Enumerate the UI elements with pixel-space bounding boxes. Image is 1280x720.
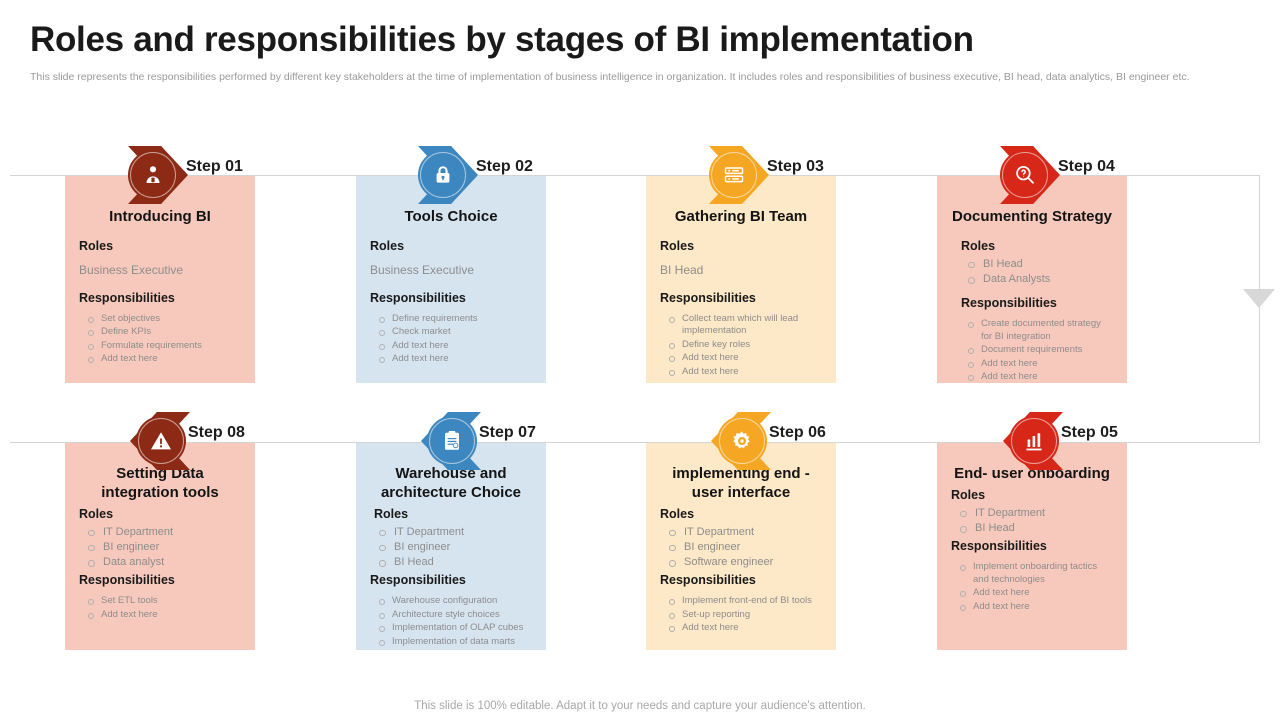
step-card-title: Introducing BI — [79, 208, 241, 227]
responsibility-item: Add text here — [951, 601, 1113, 614]
responsibility-item: Implementation of OLAP cubes — [370, 622, 532, 635]
role-item: BI engineer — [79, 540, 241, 554]
step-icon-badge[interactable] — [427, 416, 477, 466]
responsibility-item: Add text here — [370, 353, 532, 366]
step-marker[interactable]: Step 07 — [421, 412, 621, 470]
step-card-title: implementing end -user interface — [660, 465, 822, 503]
responsibility-item: Add text here — [660, 622, 822, 635]
role-item: BI engineer — [660, 540, 822, 554]
role-item: IT Department — [660, 525, 822, 539]
responsibility-item: Implementation of data marts — [370, 636, 532, 649]
responsibility-item: Add text here — [370, 340, 532, 353]
role-item: Software engineer — [660, 555, 822, 569]
step-card[interactable]: Tools ChoiceRolesBusiness ExecutiveRespo… — [356, 176, 546, 383]
responsibility-item: Add text here — [660, 366, 822, 379]
step-card-title: Warehouse and architecture Choice — [370, 465, 532, 503]
step-number-label: Step 06 — [769, 424, 826, 442]
role-value: BI Head — [660, 263, 822, 277]
chart-bars-icon — [1022, 429, 1046, 453]
step-icon-badge[interactable] — [1000, 150, 1050, 200]
responsibility-item: Architecture style choices — [370, 609, 532, 622]
responsibilities-list: Implement onboarding tactics and technol… — [951, 561, 1113, 613]
responsibility-item: Add text here — [959, 371, 1113, 384]
responsibilities-heading: Responsibilities — [79, 291, 241, 305]
step-marker[interactable]: Step 01 — [128, 146, 328, 204]
responsibilities-heading: Responsibilities — [951, 539, 1113, 553]
step-number-label: Step 08 — [188, 424, 245, 442]
role-item: Data Analysts — [959, 272, 1113, 286]
responsibility-item: Collect team which will lead implementat… — [660, 313, 822, 338]
responsibility-item: Add text here — [959, 358, 1113, 371]
roles-heading: Roles — [660, 507, 822, 521]
responsibilities-list: Set objectivesDefine KPIsFormulate requi… — [79, 313, 241, 366]
step-card[interactable]: implementing end -user interfaceRolesIT … — [646, 443, 836, 650]
role-value: Business Executive — [79, 263, 241, 277]
step-number-label: Step 02 — [476, 158, 533, 176]
step-card[interactable]: Setting Data integration toolsRolesIT De… — [65, 443, 255, 650]
server-icon — [722, 163, 746, 187]
step-icon-badge[interactable] — [128, 150, 178, 200]
role-item: IT Department — [370, 525, 532, 539]
roles-heading: Roles — [374, 507, 532, 521]
responsibilities-list: Warehouse configurationArchitecture styl… — [370, 595, 532, 648]
step-number-label: Step 05 — [1061, 424, 1118, 442]
step-marker[interactable]: Step 08 — [130, 412, 330, 470]
step-icon-badge[interactable] — [1009, 416, 1059, 466]
responsibility-item: Add text here — [79, 609, 241, 622]
responsibility-item: Document requirements — [959, 344, 1113, 357]
responsibility-item: Check market — [370, 326, 532, 339]
responsibility-item: Define key roles — [660, 339, 822, 352]
step-marker[interactable]: Step 03 — [709, 146, 909, 204]
role-value: Business Executive — [370, 263, 532, 277]
step-number-label: Step 07 — [479, 424, 536, 442]
step-number-label: Step 04 — [1058, 158, 1115, 176]
lock-icon — [431, 163, 455, 187]
step-icon-badge[interactable] — [418, 150, 468, 200]
role-item: BI engineer — [370, 540, 532, 554]
roles-list: IT DepartmentBI engineerSoftware enginee… — [660, 525, 822, 570]
step-card[interactable]: Warehouse and architecture ChoiceRolesIT… — [356, 443, 546, 650]
responsibilities-list: Define requirementsCheck marketAdd text … — [370, 313, 532, 366]
responsibility-item: Create documented strategy for BI integr… — [959, 318, 1113, 343]
roles-heading: Roles — [79, 507, 241, 521]
roles-heading: Roles — [951, 488, 1113, 502]
roles-heading: Roles — [79, 239, 241, 253]
responsibility-item: Set-up reporting — [660, 609, 822, 622]
step-card-title: Tools Choice — [370, 208, 532, 227]
role-item: IT Department — [79, 525, 241, 539]
clipboard-icon — [440, 429, 464, 453]
responsibilities-heading: Responsibilities — [660, 573, 822, 587]
role-item: Data analyst — [79, 555, 241, 569]
step-card-title: Gathering BI Team — [660, 208, 822, 227]
step-marker[interactable]: Step 06 — [711, 412, 911, 470]
roles-heading: Roles — [660, 239, 822, 253]
step-marker[interactable]: Step 04 — [1000, 146, 1200, 204]
footer-note: This slide is 100% editable. Adapt it to… — [0, 700, 1280, 712]
step-card[interactable]: Gathering BI TeamRolesBI HeadResponsibil… — [646, 176, 836, 383]
step-card[interactable]: Documenting StrategyRolesBI HeadData Ana… — [937, 176, 1127, 383]
responsibility-item: Add text here — [79, 353, 241, 366]
responsibilities-heading: Responsibilities — [370, 291, 532, 305]
warning-icon — [149, 429, 173, 453]
step-marker[interactable]: Step 02 — [418, 146, 618, 204]
roles-heading: Roles — [370, 239, 532, 253]
role-item: BI Head — [951, 521, 1113, 535]
role-item: IT Department — [951, 506, 1113, 520]
role-item: BI Head — [370, 555, 532, 569]
responsibility-item: Add text here — [660, 352, 822, 365]
step-icon-badge[interactable] — [709, 150, 759, 200]
responsibilities-heading: Responsibilities — [79, 573, 241, 587]
responsibility-item: Warehouse configuration — [370, 595, 532, 608]
responsibility-item: Formulate requirements — [79, 340, 241, 353]
roles-list: IT DepartmentBI engineerData analyst — [79, 525, 241, 570]
roles-heading: Roles — [961, 239, 1113, 253]
step-icon-badge[interactable] — [136, 416, 186, 466]
responsibilities-heading: Responsibilities — [961, 296, 1113, 310]
roles-list: IT DepartmentBI engineerBI Head — [370, 525, 532, 570]
responsibilities-list: Create documented strategy for BI integr… — [959, 318, 1113, 384]
responsibility-item: Set objectives — [79, 313, 241, 326]
page-title: Roles and responsibilities by stages of … — [30, 20, 1250, 60]
responsibility-item: Implement onboarding tactics and technol… — [951, 561, 1113, 586]
step-icon-badge[interactable] — [717, 416, 767, 466]
gear-icon — [730, 429, 754, 453]
responsibilities-list: Collect team which will lead implementat… — [660, 313, 822, 379]
step-number-label: Step 03 — [767, 158, 824, 176]
responsibility-item: Add text here — [951, 587, 1113, 600]
responsibility-item: Set ETL tools — [79, 595, 241, 608]
step-card[interactable]: End- user onboardingRolesIT DepartmentBI… — [937, 443, 1127, 650]
responsibilities-heading: Responsibilities — [370, 573, 532, 587]
responsibilities-list: Set ETL toolsAdd text here — [79, 595, 241, 621]
role-item: BI Head — [959, 257, 1113, 271]
roles-list: BI HeadData Analysts — [959, 257, 1113, 287]
roles-list: IT DepartmentBI Head — [951, 506, 1113, 536]
search-question-icon — [1013, 163, 1037, 187]
step-marker[interactable]: Step 05 — [1003, 412, 1203, 470]
step-card[interactable]: Introducing BIRolesBusiness ExecutiveRes… — [65, 176, 255, 383]
connector-rail-right — [1259, 175, 1260, 443]
step-card-title: Setting Data integration tools — [79, 465, 241, 503]
step-number-label: Step 01 — [186, 158, 243, 176]
connector-arrow-down-icon — [1243, 289, 1275, 308]
responsibilities-list: Implement front-end of BI toolsSet-up re… — [660, 595, 822, 635]
responsibility-item: Define requirements — [370, 313, 532, 326]
responsibility-item: Implement front-end of BI tools — [660, 595, 822, 608]
page-subtitle: This slide represents the responsibiliti… — [30, 70, 1225, 85]
responsibility-item: Define KPIs — [79, 326, 241, 339]
responsibilities-heading: Responsibilities — [660, 291, 822, 305]
user-badge-icon — [141, 163, 165, 187]
step-card-title: Documenting Strategy — [951, 208, 1113, 227]
slide-root: Roles and responsibilities by stages of … — [0, 0, 1280, 720]
